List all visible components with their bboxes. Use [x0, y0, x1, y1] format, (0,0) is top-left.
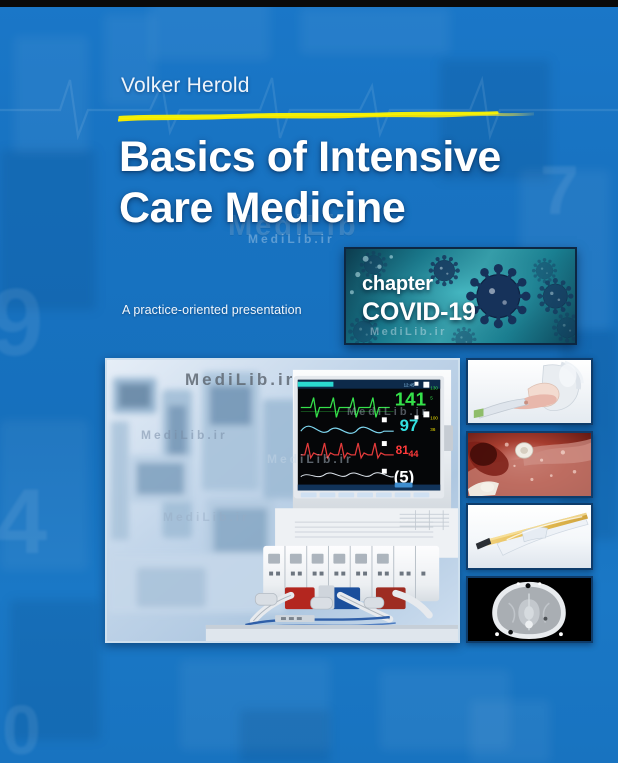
covid-badge-text: chapter COVID-19	[362, 273, 476, 327]
top-letterbox-bar	[0, 0, 618, 7]
airway-intubation-icon	[468, 360, 591, 425]
watermark-title-area: MediLib.ir	[248, 232, 335, 246]
page-title: Basics of Intensive Care Medicine	[119, 132, 589, 234]
icu-monitor-photo: 12:45 141 97 81 44 (5) 130 5 100 36	[105, 358, 460, 643]
thumbnail-catheter-instrument	[466, 503, 593, 570]
svg-text:12:45: 12:45	[404, 383, 415, 388]
covid-chapter-label: chapter	[362, 273, 476, 296]
title-line-2: Care Medicine	[119, 183, 589, 234]
covid-topic-label: COVID-19	[362, 298, 476, 327]
brain-ct-scan-icon	[468, 578, 591, 643]
svg-text:100: 100	[430, 415, 438, 420]
subtitle: A practice-oriented presentation	[122, 303, 302, 317]
book-cover: 9 4 0 7 MediLib Volker Herold Basics of …	[0, 0, 618, 763]
icu-scene-graphic: 12:45 141 97 81 44 (5) 130 5 100 36	[107, 360, 458, 642]
watermark-photo-top: MediLib.ir	[185, 370, 295, 390]
thumbnail-airway-intubation-model	[466, 358, 593, 425]
watermark-photo-left: MediLib.ir	[141, 428, 228, 442]
title-line-1: Basics of Intensive	[119, 133, 501, 181]
svg-text:130: 130	[430, 386, 438, 391]
thumbnail-brain-ct-scan	[466, 576, 593, 643]
highlight-marker	[117, 110, 535, 123]
watermark-photo-right: MediLib.ir	[347, 406, 429, 418]
endoscopy-tissue-icon	[468, 433, 591, 498]
thumbnail-strip	[466, 358, 593, 643]
covid-chapter-badge: chapter COVID-19 MediLib.ir	[344, 247, 577, 345]
watermark-photo-lower: MediLib.ir	[163, 510, 250, 524]
author-name: Volker Herold	[121, 74, 250, 98]
svg-text:44: 44	[409, 449, 419, 459]
svg-text:36: 36	[430, 427, 436, 432]
catheter-instrument-icon	[468, 505, 591, 570]
thumbnail-endoscopy-tissue-view	[466, 431, 593, 498]
svg-text:81: 81	[396, 443, 410, 457]
covid-badge-watermark: MediLib.ir	[370, 326, 447, 338]
watermark-photo-center: MediLib.ir	[267, 452, 354, 466]
